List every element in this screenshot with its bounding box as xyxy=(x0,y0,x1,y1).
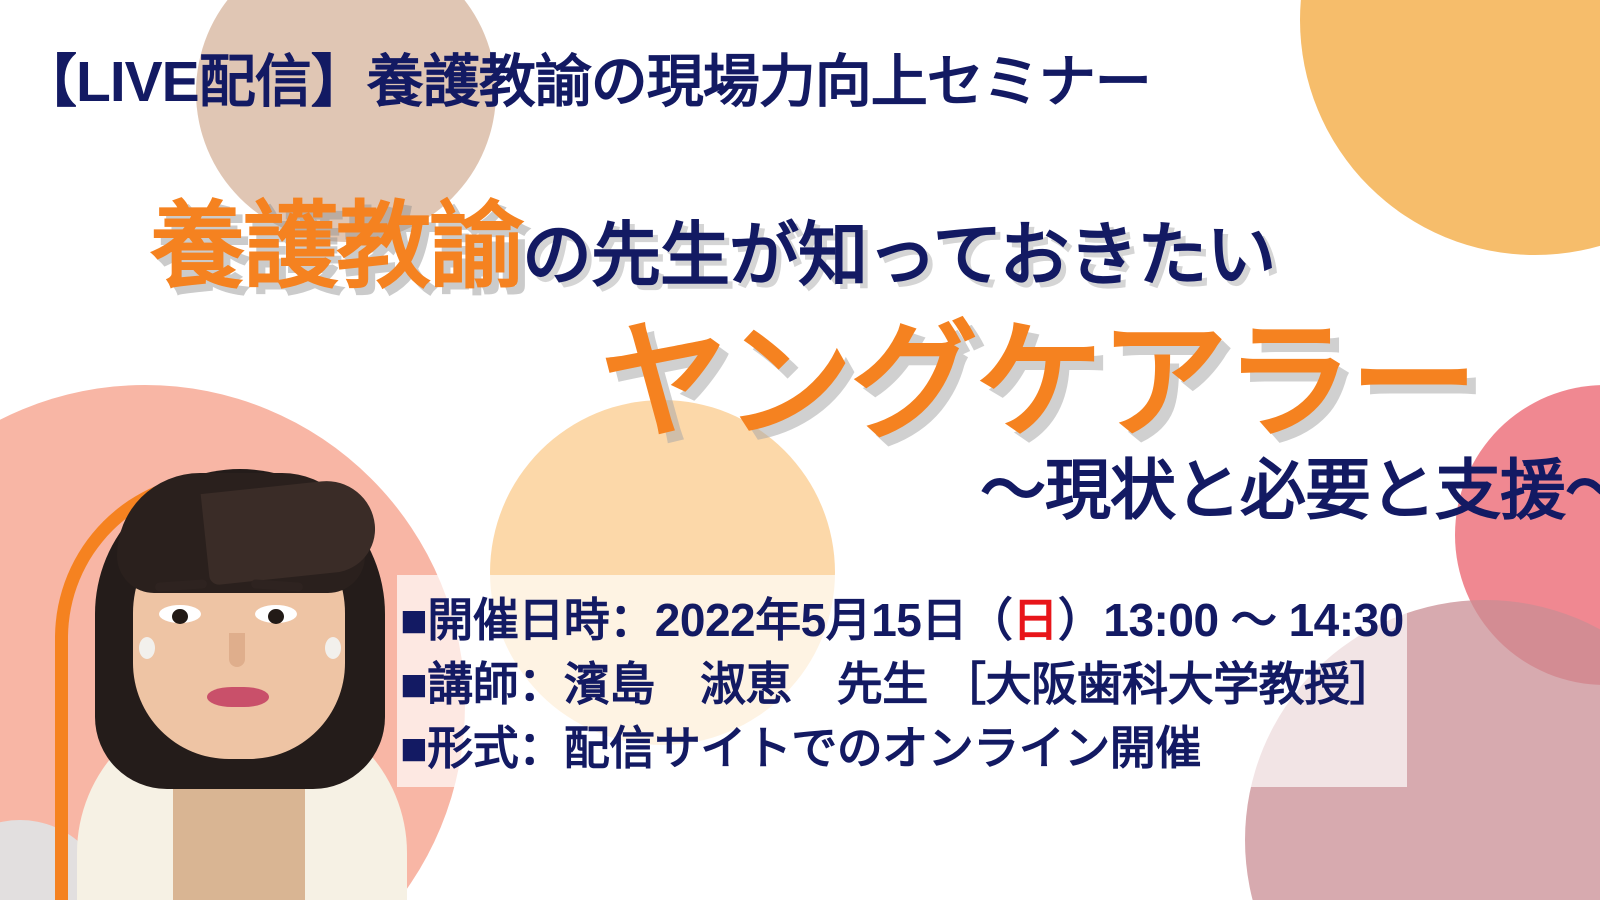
detail-row-datetime: ■開催日時：2022年5月15日（日）13:00 〜 14:30 xyxy=(400,588,1420,652)
seminar-series-title: 【LIVE配信】養護教諭の現場力向上セミナー xyxy=(20,36,1151,118)
portrait-nose xyxy=(229,633,245,667)
detail-row-format: ■形式：配信サイトでのオンライン開催 xyxy=(400,716,1420,780)
headline-emphasis: 養護教諭 xyxy=(150,192,522,302)
detail-row-lecturer: ■講師：濱島 淑恵 先生 ［大阪歯科大学教授］ xyxy=(400,652,1420,716)
bullet-square-lecturer: ■ xyxy=(400,658,427,710)
portrait-earring-left xyxy=(139,637,155,659)
detail-label-datetime: 開催日時： xyxy=(427,594,655,646)
detail-value-time: ）13:00 〜 14:30 xyxy=(1058,594,1404,646)
bullet-square-datetime: ■ xyxy=(400,594,427,646)
detail-label-lecturer: 講師： xyxy=(427,658,564,710)
portrait-earring-right xyxy=(325,637,341,659)
portrait-pupil-right xyxy=(268,609,284,624)
decorative-circle-amber-topright xyxy=(1300,0,1600,255)
seminar-poster: 【LIVE配信】養護教諭の現場力向上セミナー 養護教諭の先生が知っておきたい ヤ… xyxy=(0,0,1600,900)
portrait-mouth xyxy=(207,687,269,707)
detail-value-date-prefix: 2022年5月15日（ xyxy=(655,594,1013,646)
decorative-circle-coral-right xyxy=(1455,385,1600,685)
detail-value-format: 配信サイトでのオンライン開催 xyxy=(564,722,1201,774)
headline-subtitle: 〜現状と必要と支援〜 xyxy=(980,437,1600,533)
detail-value-weekday: 日 xyxy=(1012,594,1058,646)
presenter-portrait xyxy=(55,455,455,900)
event-details-list: ■開催日時：2022年5月15日（日）13:00 〜 14:30 ■講師：濱島 … xyxy=(400,588,1420,780)
detail-value-lecturer: 濱島 淑恵 先生 ［大阪歯科大学教授］ xyxy=(564,658,1395,710)
detail-label-format: 形式： xyxy=(427,722,564,774)
headline-main-topic: ヤングケアラー xyxy=(600,278,1475,463)
bullet-square-format: ■ xyxy=(400,722,427,774)
portrait-pupil-left xyxy=(172,609,188,624)
